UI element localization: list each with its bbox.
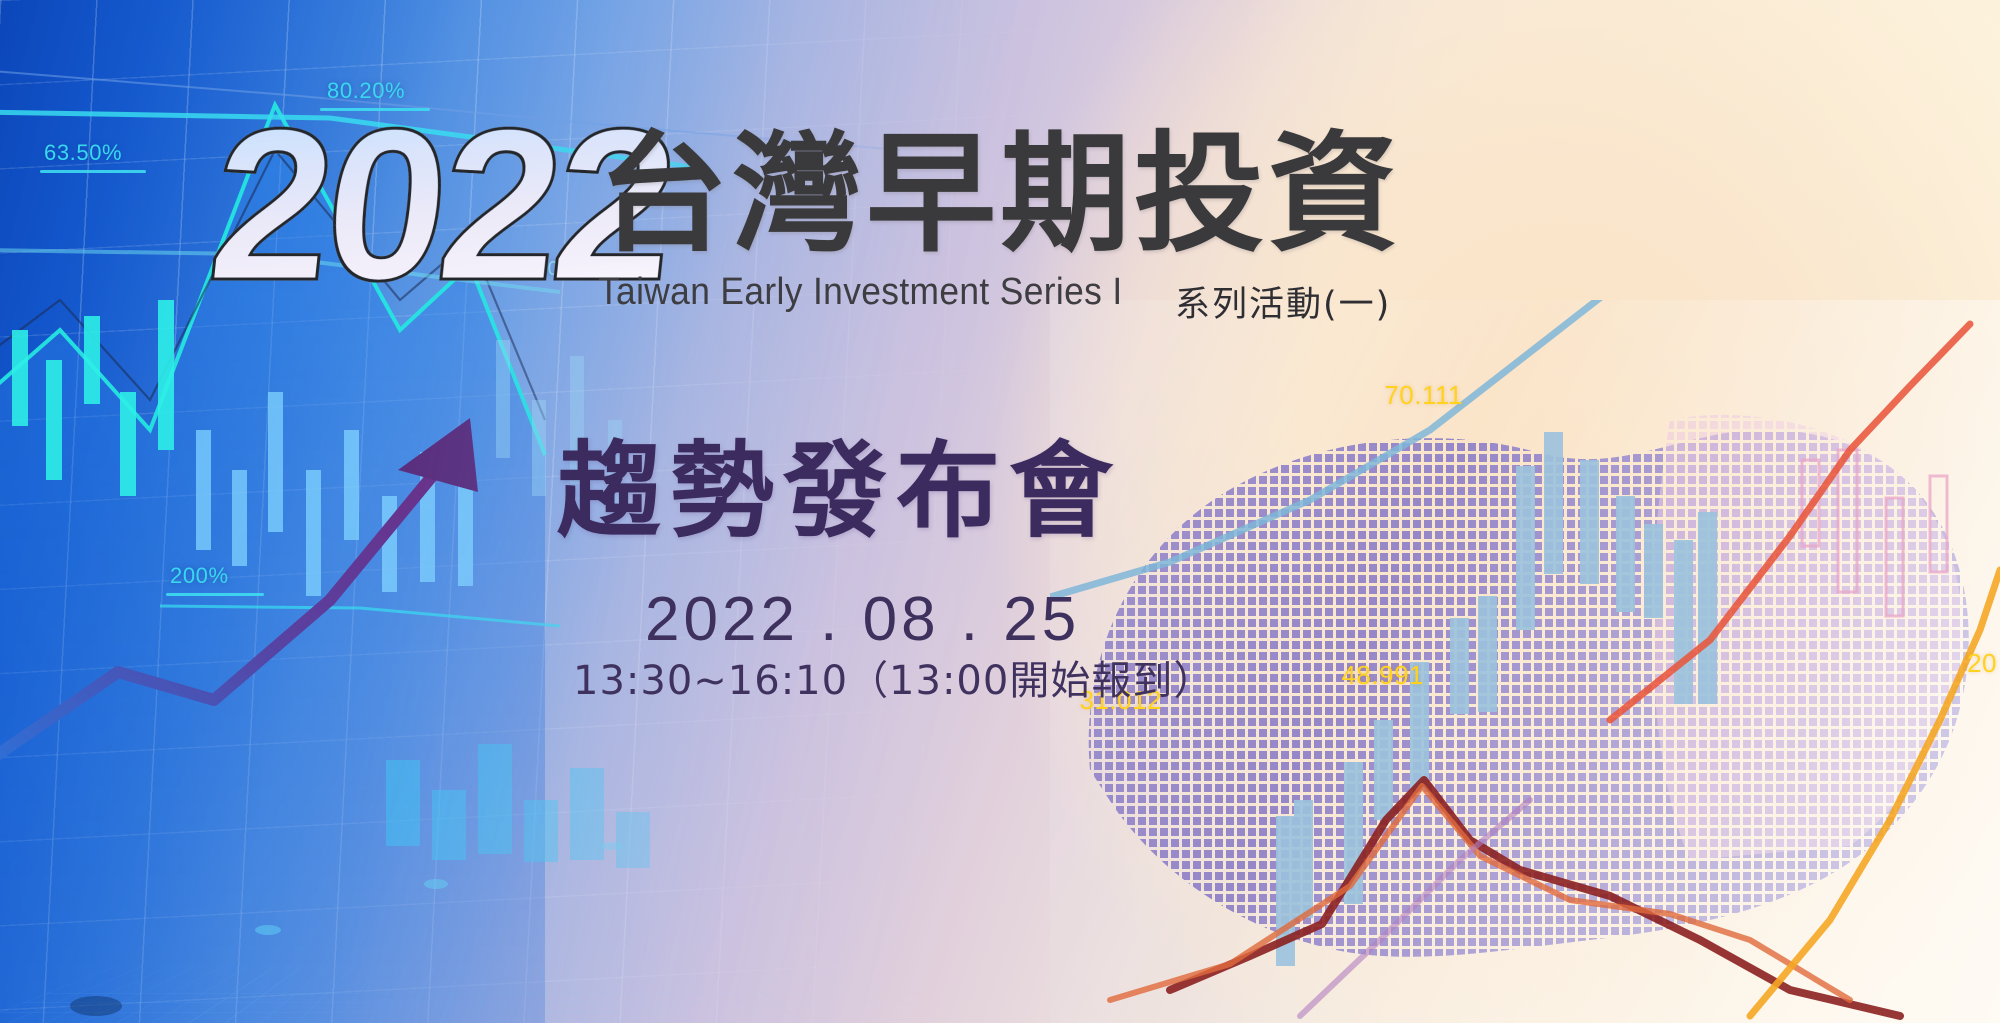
page-title: 台灣早期投資: [598, 118, 1402, 271]
pct-200-rule: [166, 593, 264, 596]
pct-635-rule: [40, 170, 146, 173]
event-banner: 80.20% 63.50% 50.00% 200%: [0, 0, 2000, 1023]
map-label-70-111: 70.111: [1384, 380, 1463, 411]
event-time: 13:30~16:10（13:00開始報到）: [573, 648, 1214, 706]
chart-label-200: 200%: [170, 563, 229, 589]
map-label-48-991: 48.991: [1341, 660, 1424, 691]
subtitle-english: Taiwan Early Investment Series I: [598, 271, 1123, 314]
event-date: 2022 . 08 . 25: [645, 584, 1080, 655]
map-label-20: 20: [1967, 648, 1997, 679]
series-label: 系列活動(一): [1175, 276, 1391, 327]
event-headline: 趨勢發布會: [557, 406, 1122, 557]
chart-label-63-50: 63.50%: [44, 140, 122, 166]
